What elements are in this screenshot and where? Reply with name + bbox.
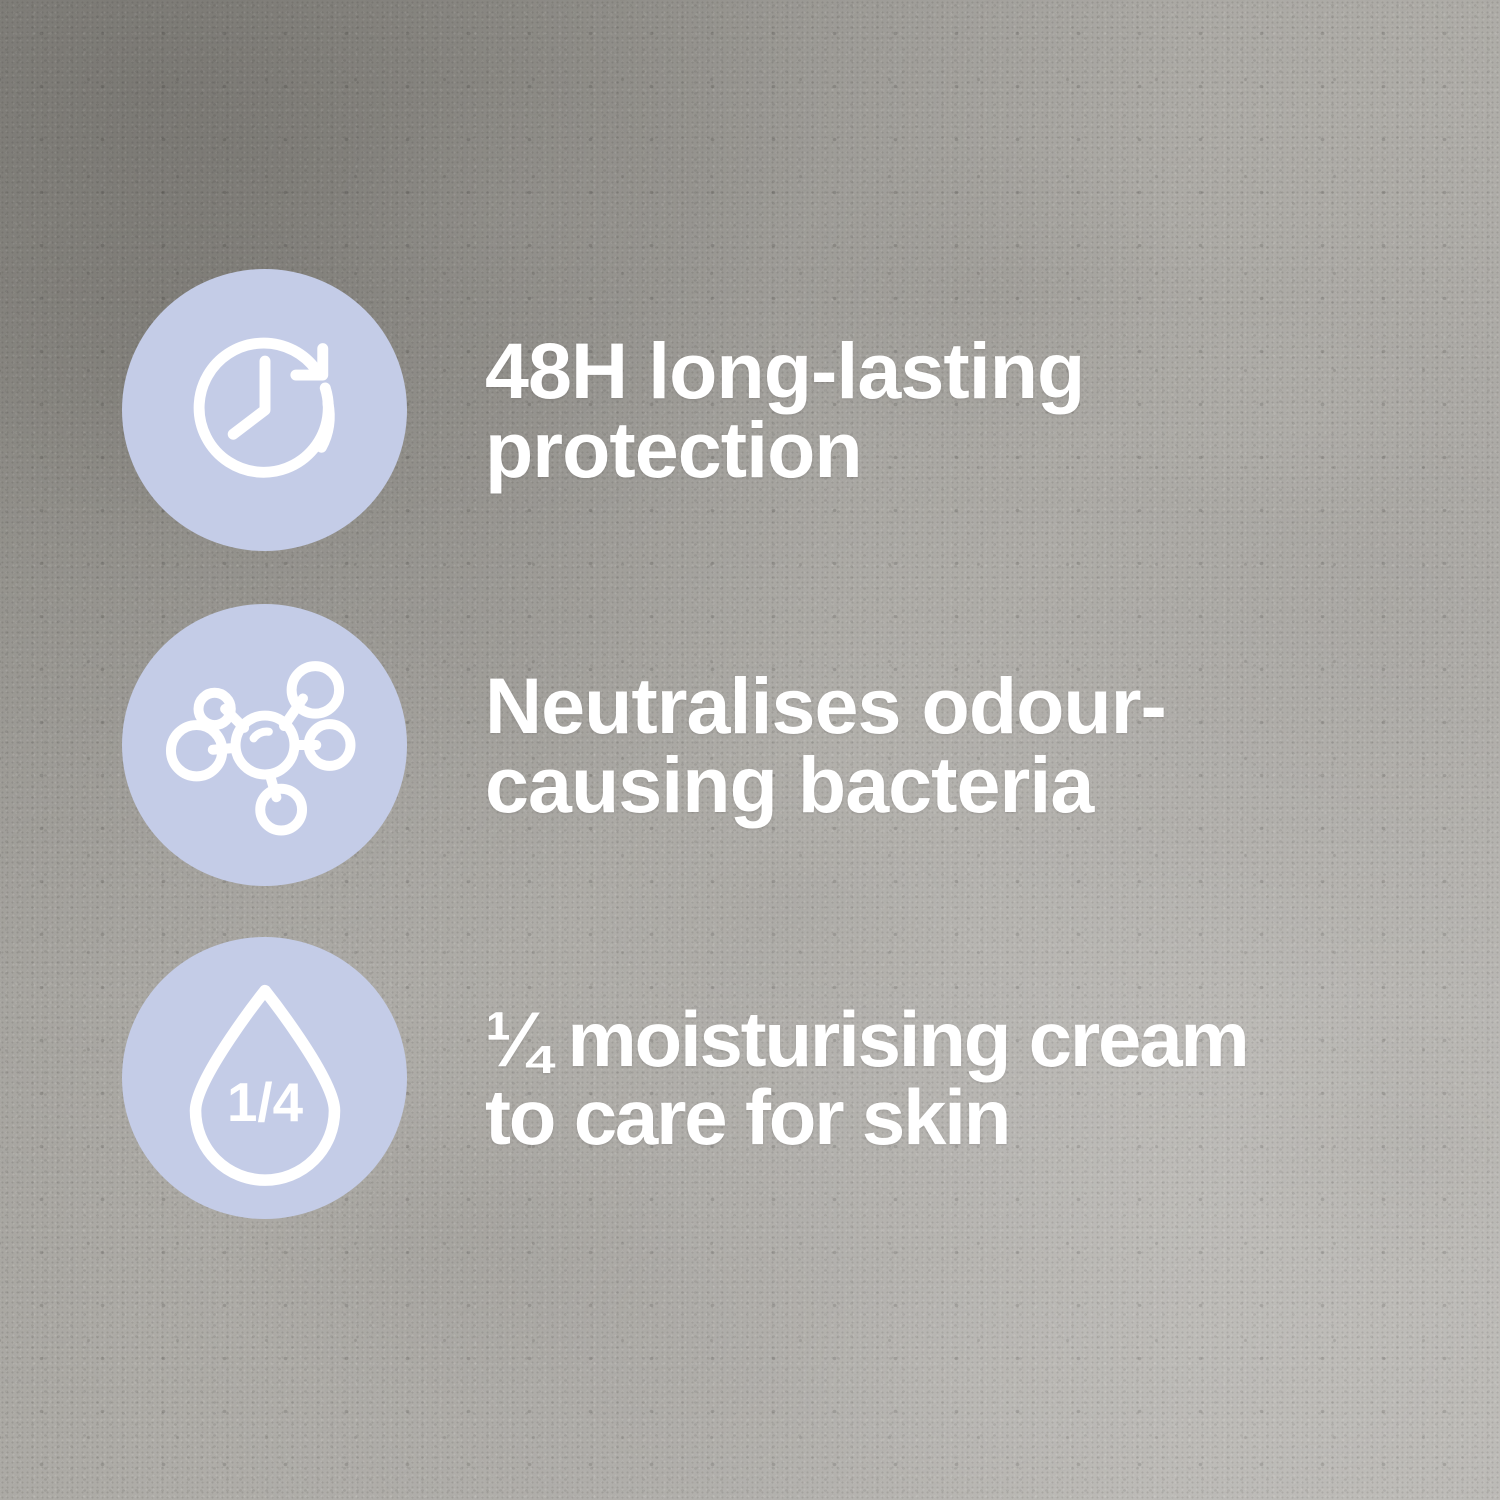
molecule-bacteria-icon — [122, 604, 407, 886]
feature-item-moisturising: 1/4 ¼ moisturising cream to care for ski… — [122, 937, 1248, 1219]
drop-fraction-label: 1/4 — [226, 1071, 303, 1133]
product-benefits-panel: 48H long-lasting protection — [0, 0, 1500, 1500]
feature-text-moisturising: ¼ moisturising cream to care for skin — [485, 1000, 1248, 1156]
feature-item-bacteria: Neutralises odour- causing bacteria — [122, 604, 1166, 886]
feature-text-bacteria: Neutralises odour- causing bacteria — [485, 666, 1166, 824]
feature-list: 48H long-lasting protection — [0, 0, 1500, 1500]
clock-refresh-icon — [122, 269, 407, 551]
water-drop-quarter-icon: 1/4 — [122, 937, 407, 1219]
feature-text-protection: 48H long-lasting protection — [485, 331, 1084, 489]
feature-item-protection: 48H long-lasting protection — [122, 269, 1084, 551]
